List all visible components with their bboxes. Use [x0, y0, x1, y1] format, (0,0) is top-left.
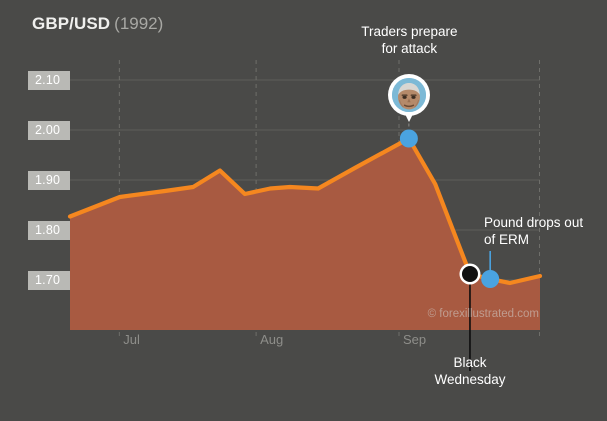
annotation-pound-drops-erm: Pound drops out of ERM [484, 215, 602, 248]
chart-page: GBP/USD(1992) [0, 0, 607, 421]
title-year-label: (1992) [114, 14, 163, 33]
plot-area [70, 60, 540, 330]
traders-blue-dot-marker[interactable] [400, 130, 418, 148]
chart-svg [70, 60, 540, 330]
y-axis-tick-190: 1.90 [28, 171, 70, 190]
watermark-credit: © forexillustrated.com [428, 308, 539, 320]
page-title: GBP/USD(1992) [32, 14, 163, 34]
y-axis-tick-170: 1.70 [28, 271, 70, 290]
x-axis-tick-sep: Sep [403, 332, 426, 347]
title-pair-label: GBP/USD [32, 14, 110, 33]
black-wednesday-dot-marker[interactable] [462, 266, 478, 282]
avatar-portrait-icon [392, 78, 426, 112]
y-axis-tick-180: 1.80 [28, 221, 70, 240]
avatar[interactable] [388, 74, 430, 116]
y-axis-tick-200: 2.00 [28, 121, 70, 140]
x-axis-tick-jul: Jul [123, 332, 140, 347]
annotation-traders-prepare: Traders prepare for attack [337, 24, 482, 57]
x-axis-tick-aug: Aug [260, 332, 283, 347]
y-axis-tick-210: 2.10 [28, 71, 70, 90]
erm-blue-dot-marker[interactable] [481, 270, 499, 288]
annotation-black-wednesday: Black Wednesday [410, 355, 530, 388]
avatar-photo [392, 78, 426, 112]
